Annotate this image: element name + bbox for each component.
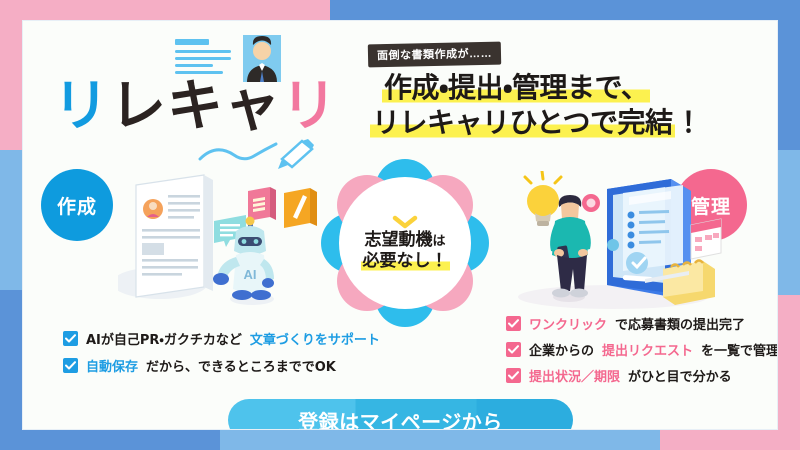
chevron-down-icon xyxy=(392,215,418,229)
frame-band-top-pink xyxy=(0,0,330,22)
svg-text:AI: AI xyxy=(244,267,257,282)
list-item-text-plain: で応募書類の提出完了 xyxy=(615,314,745,333)
headline-exclamation: ！ xyxy=(675,106,703,139)
list-item-text-plain: AIが自己PR・ガクチカなど xyxy=(86,329,242,348)
headline: 面倒な書類作成が…… 作成・提出・管理まで、 リレキャリひとつで完結！ xyxy=(368,43,768,140)
frame-band-bottom-blue xyxy=(0,428,220,450)
list-item: 提出状況／期限がひと目で分かる xyxy=(506,366,778,385)
badge-create: 作成 xyxy=(41,169,113,241)
promotional-banner: リレキャリ 面倒な書類作成が…… 作成・提出・管理まで、 リレキャリひとつで完結… xyxy=(0,0,800,450)
list-item-text-highlight: 提出リクエスト xyxy=(602,340,693,359)
lightbulb-icon xyxy=(525,171,561,226)
headline-line-1: 作成・提出・管理まで、 xyxy=(382,71,768,105)
checkbox-checked-icon xyxy=(63,331,78,346)
center-badge-line-1: 志望動機は xyxy=(364,231,445,251)
list-item-text-highlight: 提出状況／期限 xyxy=(529,366,620,385)
register-cta-button[interactable]: 登録はマイページから xyxy=(228,399,573,430)
list-item-text-plain: がひと目で分かる xyxy=(628,366,732,385)
checkbox-checked-icon xyxy=(506,342,521,357)
frame-band-top-blue xyxy=(330,0,800,22)
register-cta-label: 登録はマイページから xyxy=(298,406,503,431)
list-item-text-plain: だから、できるところまででOK xyxy=(146,356,336,375)
frame-band-right-lightblue xyxy=(778,150,800,295)
headline-line-2: リレキャリひとつで完結！ xyxy=(370,106,768,140)
checkbox-checked-icon xyxy=(506,316,521,331)
logo-text: リレキャリ xyxy=(53,79,343,135)
headline-tag: 面倒な書類作成が…… xyxy=(368,42,501,68)
list-item: 自動保存だから、できるところまででOK xyxy=(63,356,393,375)
headline-line-2-text: リレキャリひとつで完結 xyxy=(370,106,675,139)
smartphone-checklist-person-illustration xyxy=(503,171,728,311)
list-item: AIが自己PR・ガクチカなど文章づくりをサポート xyxy=(63,329,393,348)
list-item-text-highlight: 文章づくりをサポート xyxy=(250,329,380,348)
logo: リレキャリ xyxy=(53,31,343,156)
resume-ai-robot-illustration: AI xyxy=(118,171,333,311)
feature-list-create: AIが自己PR・ガクチカなど文章づくりをサポート 自動保存だから、できるところま… xyxy=(63,329,393,383)
logo-char-mid: レキャ xyxy=(110,74,281,139)
center-badge-line-2: 必要なし！ xyxy=(361,251,450,271)
logo-char-last: リ xyxy=(281,74,338,139)
center-badge: 志望動機は 必要なし！ xyxy=(321,159,489,327)
list-item-text-plain-2: を一覧で管理 xyxy=(701,340,778,359)
center-badge-line-1-suffix: は xyxy=(432,234,445,249)
headline-line-1-text: 作成・提出・管理まで、 xyxy=(382,71,650,104)
list-item-text-plain: 企業からの xyxy=(529,340,594,359)
center-badge-line-1-main: 志望動機 xyxy=(364,230,432,250)
list-item: 企業からの提出リクエストを一覧で管理 xyxy=(506,340,778,359)
checkbox-checked-icon xyxy=(506,368,521,383)
feature-list-manage: ワンクリックで応募書類の提出完了 企業からの提出リクエストを一覧で管理 提出状況… xyxy=(506,314,778,392)
list-item-text-highlight: ワンクリック xyxy=(529,314,607,333)
center-badge-content: 志望動機は 必要なし！ xyxy=(345,183,465,303)
frame-band-left-pink xyxy=(0,0,22,150)
pen-underline-icon xyxy=(198,139,328,171)
logo-char-1: リ xyxy=(53,74,110,139)
frame-band-bottom-pink xyxy=(660,428,800,450)
frame-band-bottom-lightblue xyxy=(220,428,660,450)
frame-band-left-lightblue xyxy=(0,150,22,290)
list-item: ワンクリックで応募書類の提出完了 xyxy=(506,314,778,333)
badge-create-label: 作成 xyxy=(57,192,97,219)
banner-card: リレキャリ 面倒な書類作成が…… 作成・提出・管理まで、 リレキャリひとつで完結… xyxy=(22,20,778,430)
checkbox-checked-icon xyxy=(63,358,78,373)
list-item-text-highlight: 自動保存 xyxy=(86,356,138,375)
